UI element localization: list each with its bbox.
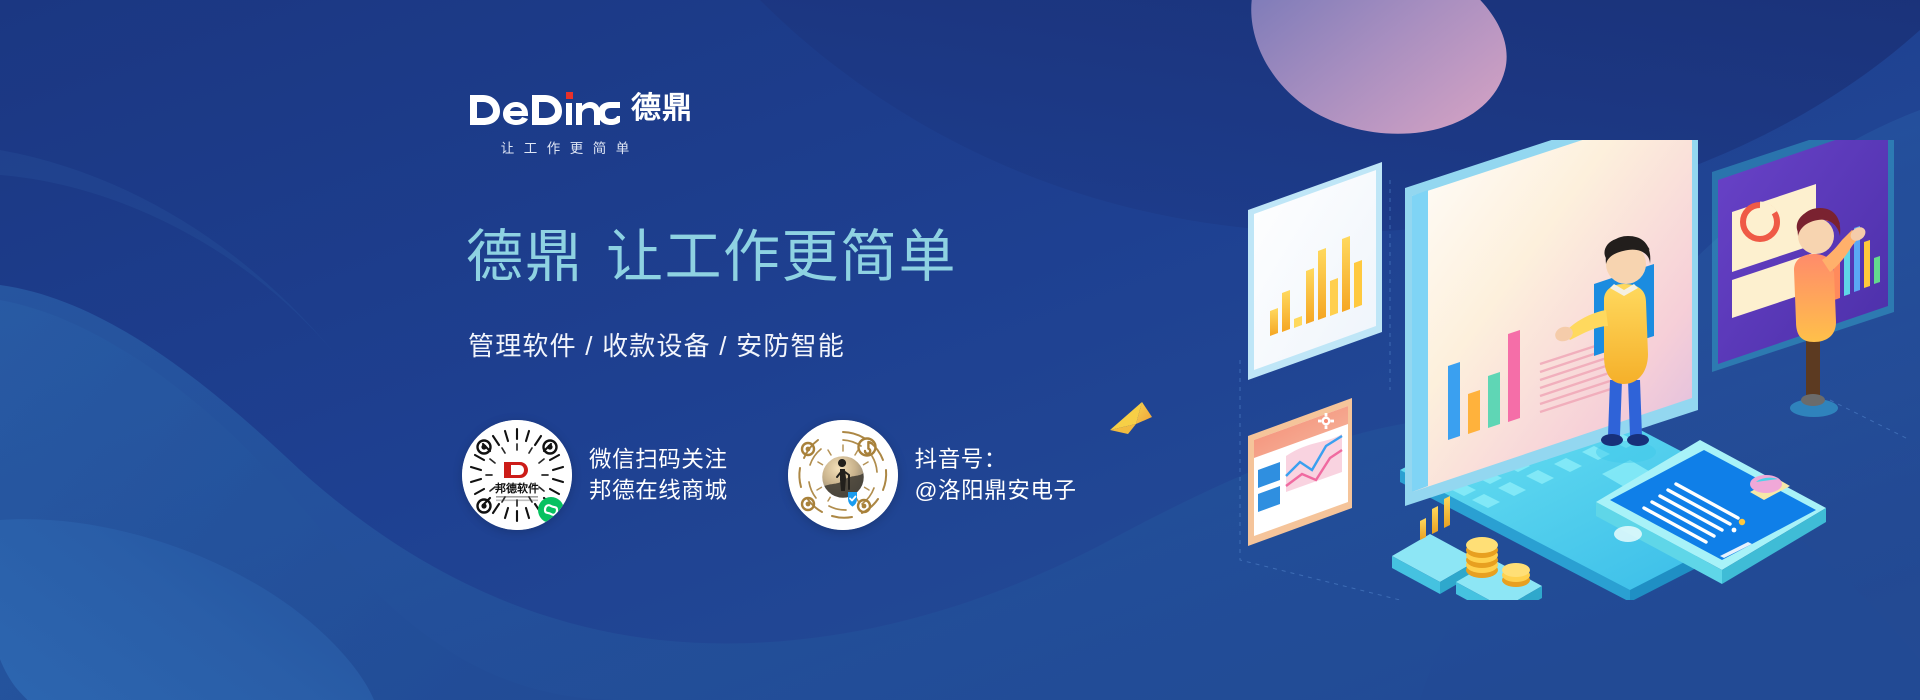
hero-headline: 德鼎让工作更简单 [466, 227, 957, 289]
isometric-illustration [1230, 140, 1920, 600]
wechat-qr-caption: 微信扫码关注 邦德在线商城 [589, 444, 728, 506]
douyin-qr-line2: @洛阳鼎安电子 [915, 475, 1077, 506]
bar-chart-panel [1248, 162, 1382, 380]
deding-wordmark-icon [470, 92, 620, 126]
content-column: 德鼎 让工作更简单 德鼎让工作更简单 管理软件 / 收款设备 / 安防智能 [0, 0, 1100, 700]
brand-logo-cn: 德鼎 [631, 94, 693, 124]
svg-text:邦德软件: 邦德软件 [495, 481, 539, 495]
hero-subtitle: 管理软件 / 收款设备 / 安防智能 [468, 326, 845, 363]
line-chart-card [1248, 398, 1352, 546]
douyin-qr-caption: 抖音号： @洛阳鼎安电子 [915, 444, 1077, 506]
wechat-qr-code[interactable]: 邦德软件 [462, 420, 572, 530]
qr-code-row: 邦德软件 微信扫码关注 邦德在线商城 [462, 420, 1077, 530]
hero-headline-brand: 德鼎 [466, 225, 584, 289]
qr-item-wechat[interactable]: 邦德软件 微信扫码关注 邦德在线商城 [462, 420, 728, 530]
brand-logo[interactable]: 德鼎 让工作更简单 [470, 92, 693, 157]
wechat-qr-line1: 微信扫码关注 [589, 444, 728, 475]
douyin-qr-code[interactable] [788, 420, 898, 530]
brand-tagline: 让工作更简单 [470, 137, 660, 157]
promo-banner: 德鼎 让工作更简单 德鼎让工作更简单 管理软件 / 收款设备 / 安防智能 [0, 0, 1920, 700]
wechat-miniprogram-badge [538, 497, 564, 523]
douyin-qr-line1: 抖音号： [915, 444, 1077, 475]
wechat-qr-line2: 邦德在线商城 [589, 475, 728, 506]
hero-headline-rest: 让工作更简单 [606, 225, 957, 289]
qr-item-douyin[interactable]: 抖音号： @洛阳鼎安电子 [788, 420, 1077, 530]
paper-plane-icon [1108, 400, 1154, 445]
